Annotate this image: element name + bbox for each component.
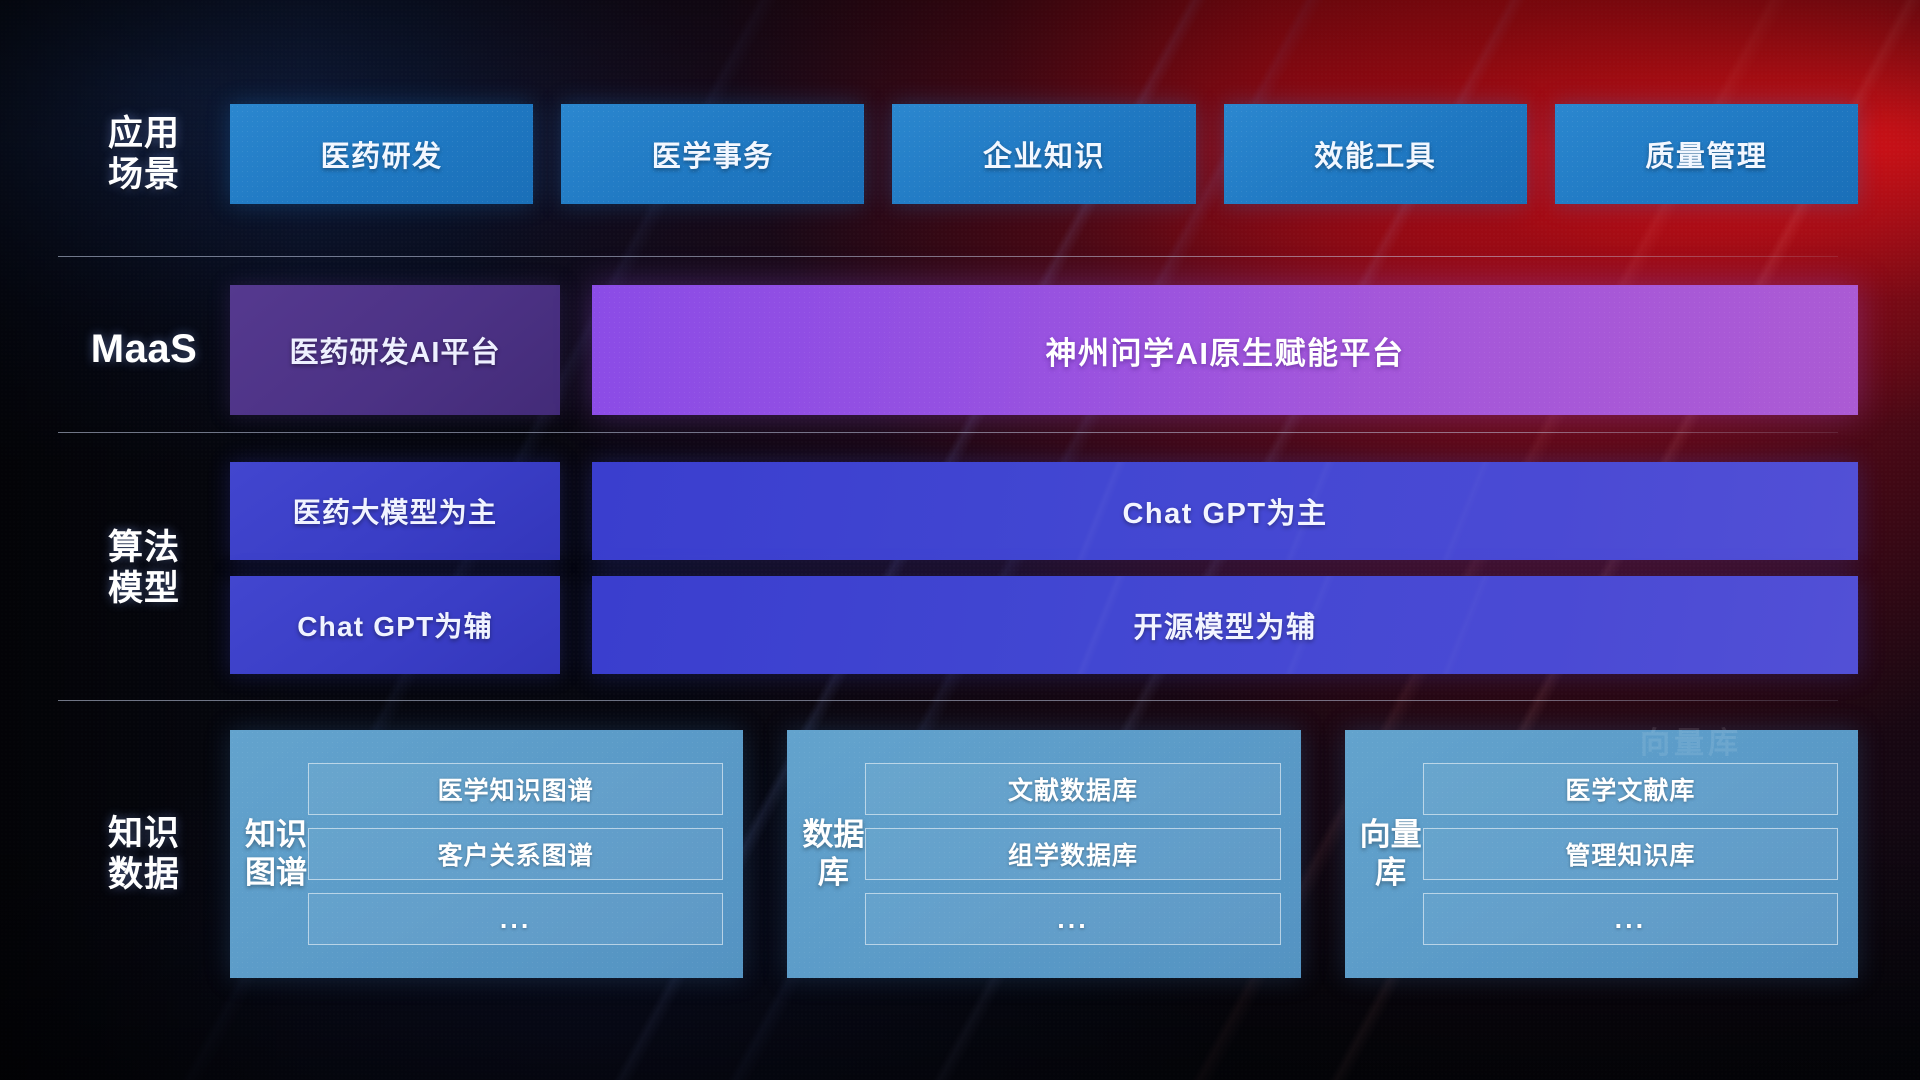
app-scenario-label-1: 医药研发 — [321, 133, 443, 175]
app-scenario-box-3[interactable]: 企业知识 — [892, 104, 1195, 204]
algorithm-box-primary-medical[interactable]: 医药大模型为主 — [230, 462, 560, 560]
app-scenario-box-4[interactable]: 效能工具 — [1224, 104, 1527, 204]
maas-platform-box-right[interactable]: 神州问学AI原生赋能平台 — [592, 285, 1858, 415]
knowledge-item-database-2[interactable]: 组学数据库 — [865, 828, 1280, 880]
knowledge-group-database[interactable]: 数据库 文献数据库 组学数据库 ... — [787, 730, 1300, 978]
row-algorithm-model: 算法 模型 医药大模型为主 Chat GPT为主 Chat GPT为辅 开源模型… — [0, 462, 1920, 674]
architecture-diagram: 应用 场景 医药研发 医学事务 企业知识 效能工具 质量管理 — [0, 0, 1920, 1080]
app-scenario-box-2[interactable]: 医学事务 — [561, 104, 864, 204]
algorithm-label-secondary-opensource: 开源模型为辅 — [1133, 604, 1316, 646]
algorithm-box-secondary-chatgpt[interactable]: Chat GPT为辅 — [230, 576, 560, 674]
knowledge-item-vector-2[interactable]: 管理知识库 — [1423, 828, 1838, 880]
app-scenario-box-1[interactable]: 医药研发 — [230, 104, 533, 204]
divider-1 — [58, 256, 1838, 257]
knowledge-item-vector-more[interactable]: ... — [1423, 893, 1838, 945]
divider-2 — [58, 432, 1838, 433]
maas-platform-label-left: 医药研发AI平台 — [289, 329, 500, 371]
app-scenario-label-4: 效能工具 — [1314, 133, 1436, 175]
knowledge-items-vector: 医学文献库 管理知识库 ... — [1423, 763, 1838, 945]
knowledge-group-label-graph: 知识图谱 — [244, 816, 308, 892]
row-maas: MaaS 医药研发AI平台 神州问学AI原生赋能平台 — [0, 285, 1920, 415]
row-label-knowledge-data: 知识 数据 — [58, 813, 230, 896]
knowledge-group-vector[interactable]: 向量库 医学文献库 管理知识库 ... — [1345, 730, 1858, 978]
app-scenario-box-5[interactable]: 质量管理 — [1555, 104, 1858, 204]
knowledge-group-label-database: 数据库 — [801, 816, 865, 892]
knowledge-item-graph-more[interactable]: ... — [308, 893, 723, 945]
algorithm-box-secondary-opensource[interactable]: 开源模型为辅 — [592, 576, 1858, 674]
algorithm-label-primary-medical: 医药大模型为主 — [293, 491, 497, 531]
knowledge-item-database-more[interactable]: ... — [865, 893, 1280, 945]
algorithm-box-primary-chatgpt[interactable]: Chat GPT为主 — [592, 462, 1858, 560]
maas-platform-label-right: 神州问学AI原生赋能平台 — [1046, 328, 1405, 373]
knowledge-items-graph: 医学知识图谱 客户关系图谱 ... — [308, 763, 723, 945]
algorithm-line-1: 医药大模型为主 Chat GPT为主 — [230, 462, 1920, 560]
row-application-scenarios: 应用 场景 医药研发 医学事务 企业知识 效能工具 质量管理 — [0, 104, 1920, 204]
algorithm-label-secondary-chatgpt: Chat GPT为辅 — [297, 605, 493, 645]
row-label-maas: MaaS — [58, 326, 230, 373]
app-scenario-label-5: 质量管理 — [1645, 133, 1767, 175]
row-label-algorithm-model: 算法 模型 — [58, 527, 230, 610]
knowledge-group-graph[interactable]: 知识图谱 医学知识图谱 客户关系图谱 ... — [230, 730, 743, 978]
knowledge-item-graph-1[interactable]: 医学知识图谱 — [308, 763, 723, 815]
row-label-application-scenarios: 应用 场景 — [58, 113, 230, 196]
knowledge-group-label-vector: 向量库 — [1359, 816, 1423, 892]
algorithm-label-primary-chatgpt: Chat GPT为主 — [1122, 490, 1327, 532]
row-knowledge-data: 知识 数据 知识图谱 医学知识图谱 客户关系图谱 ... 数据库 文献数据库 组… — [0, 730, 1920, 978]
algorithm-line-2: Chat GPT为辅 开源模型为辅 — [230, 576, 1920, 674]
app-scenario-label-2: 医学事务 — [652, 133, 774, 175]
maas-platform-box-left[interactable]: 医药研发AI平台 — [230, 285, 560, 415]
app-scenario-label-3: 企业知识 — [983, 133, 1105, 175]
knowledge-item-vector-1[interactable]: 医学文献库 — [1423, 763, 1838, 815]
knowledge-items-database: 文献数据库 组学数据库 ... — [865, 763, 1280, 945]
knowledge-item-database-1[interactable]: 文献数据库 — [865, 763, 1280, 815]
knowledge-item-graph-2[interactable]: 客户关系图谱 — [308, 828, 723, 880]
divider-3 — [58, 700, 1838, 701]
